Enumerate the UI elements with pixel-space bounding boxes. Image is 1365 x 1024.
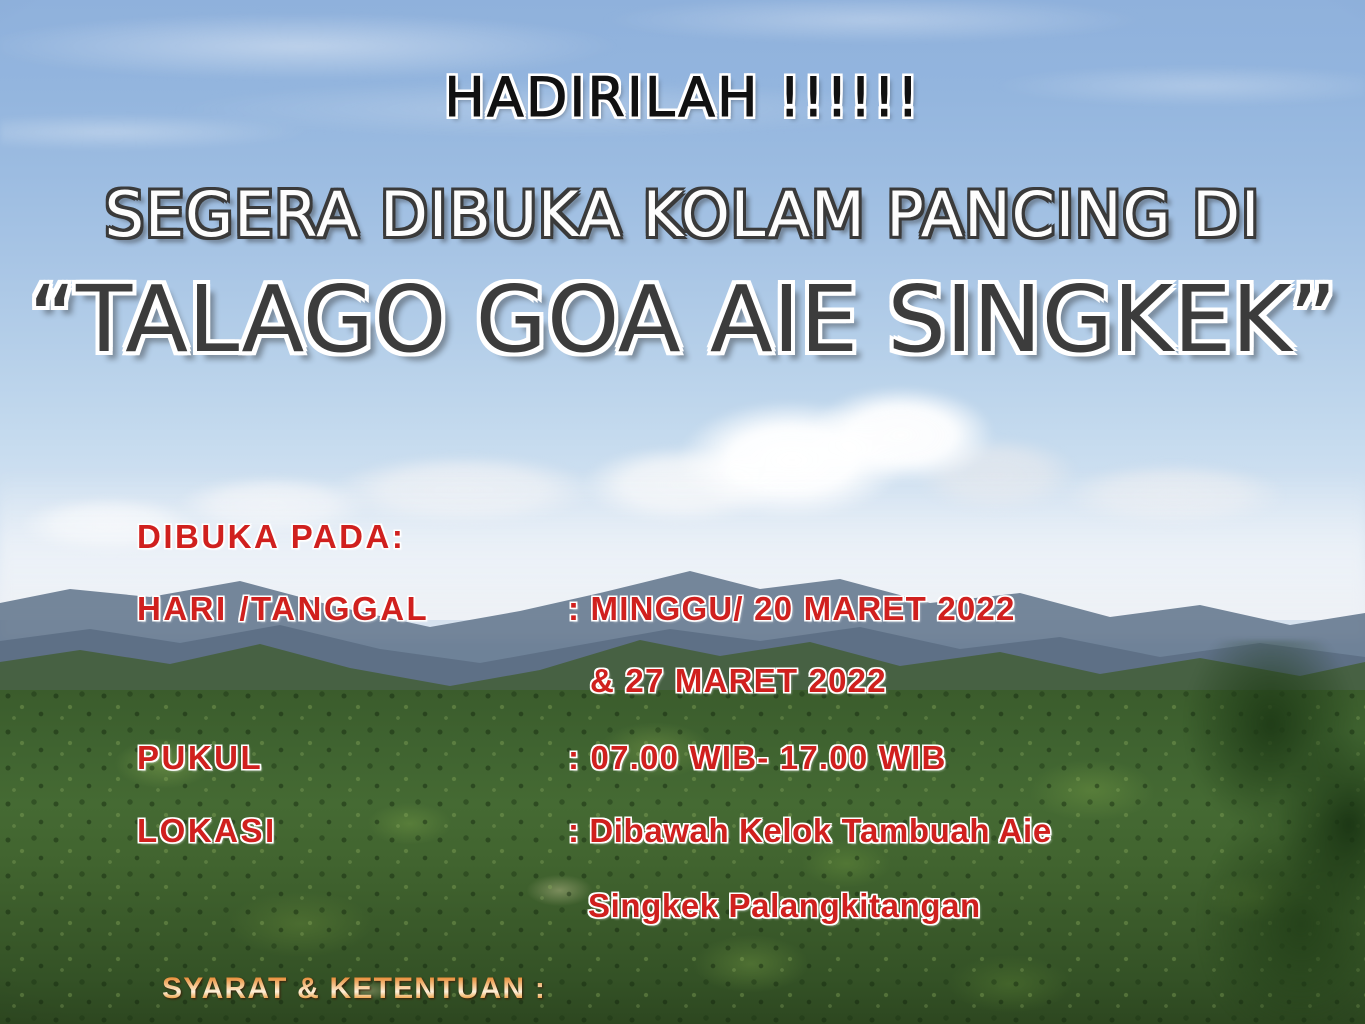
- value-lokasi-line2: Singkek Palangkitangan: [588, 887, 981, 925]
- text-overlay: HADIRILAH !!!!!! SEGERA DIBUKA KOLAM PAN…: [0, 0, 1365, 1024]
- section-heading-dibuka-pada: DIBUKA PADA:: [137, 518, 405, 556]
- label-hari-tanggal: HARI /TANGGAL: [137, 590, 429, 628]
- poster-canvas: HADIRILAH !!!!!! SEGERA DIBUKA KOLAM PAN…: [0, 0, 1365, 1024]
- value-hari-tanggal: : MINGGU/ 20 MARET 2022: [568, 590, 1016, 628]
- value-pukul: : 07.00 WIB- 17.00 WIB: [568, 739, 947, 777]
- value-hari-tanggal-line2: & 27 MARET 2022: [590, 662, 887, 700]
- event-details-block: DIBUKA PADA: HARI /TANGGAL : MINGGU/ 20 …: [0, 0, 1365, 1024]
- label-pukul: PUKUL: [137, 739, 263, 777]
- value-lokasi: : Dibawah Kelok Tambuah Aie: [568, 812, 1052, 850]
- label-lokasi: LOKASI: [137, 812, 277, 850]
- terms-heading: SYARAT & KETENTUAN :: [162, 972, 546, 1006]
